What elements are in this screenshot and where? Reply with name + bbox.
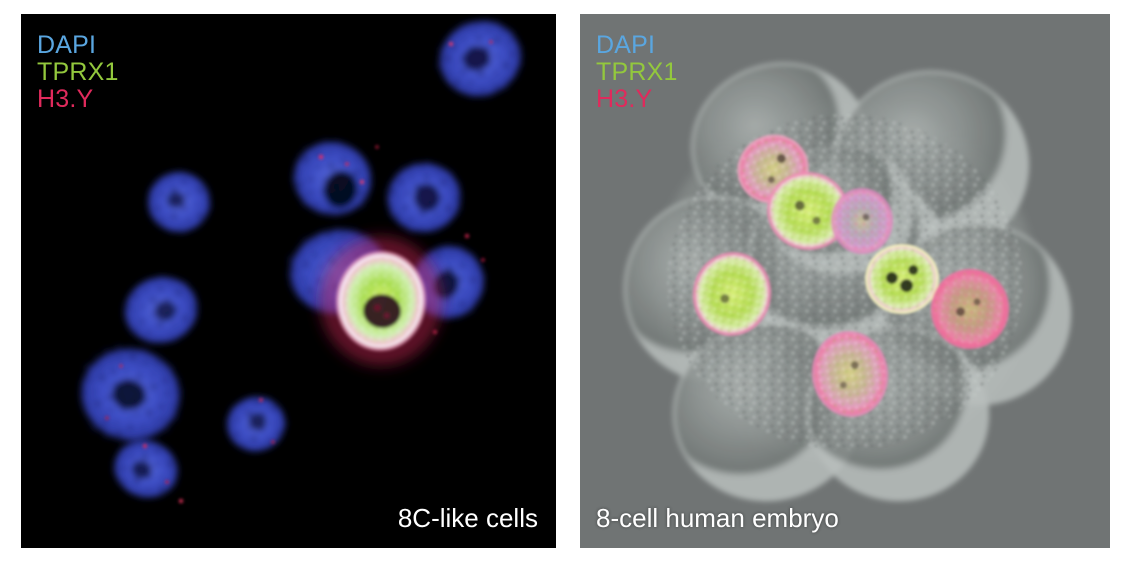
panel-8-cell-human-embryo: DAPI TPRX1 H3.Y 8-cell human embryo <box>580 14 1110 548</box>
left-panel-image <box>21 14 556 548</box>
panel-8c-like-cells: DAPI TPRX1 H3.Y 8C-like cells <box>21 14 556 548</box>
right-panel-image <box>580 14 1110 548</box>
microscopy-figure: DAPI TPRX1 H3.Y 8C-like cells <box>0 0 1132 568</box>
nucleus-left-small <box>146 170 212 234</box>
caption-8-cell-human-embryo: 8-cell human embryo <box>596 503 839 534</box>
caption-8c-like-cells: 8C-like cells <box>398 503 538 534</box>
embryo-nucleus-3 <box>831 188 893 254</box>
